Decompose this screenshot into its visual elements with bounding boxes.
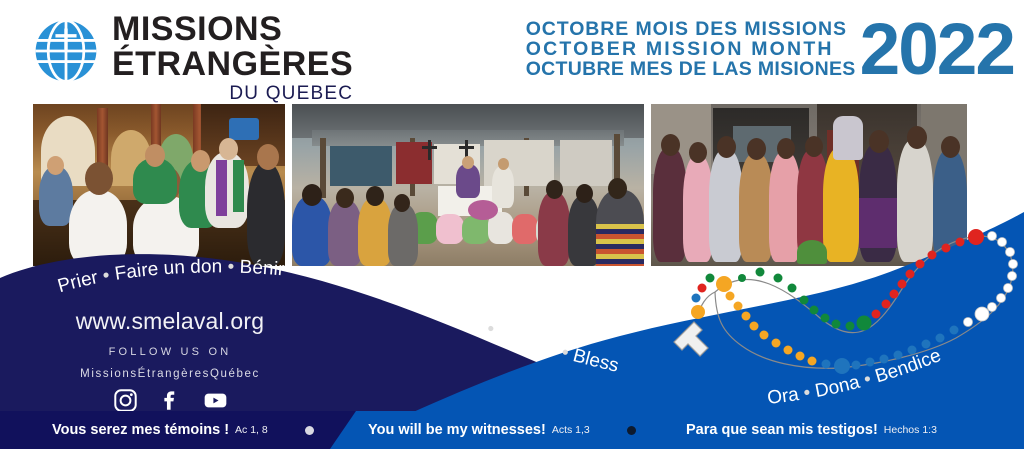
scripture-separator-1: [305, 411, 314, 449]
website-link[interactable]: www.smelaval.org: [0, 308, 340, 335]
cta-fr-pray: Prier: [55, 267, 100, 297]
cta-es-pray: Ora: [766, 384, 800, 409]
cta-fr-sep-1: •: [101, 265, 111, 287]
cta-english: Pray • Donate • Bless: [442, 304, 620, 377]
follow-us-label: FOLLOW US ON: [0, 346, 340, 358]
cta-spanish: Ora • Dona • Bendice: [766, 345, 944, 409]
cta-french: Prier • Faire un don • Bénir: [55, 256, 285, 297]
contact-block: www.smelaval.org FOLLOW US ON MissionsÉt…: [0, 308, 340, 413]
facebook-icon[interactable]: [158, 388, 183, 413]
cta-fr-bless: Bénir: [239, 257, 286, 281]
cta-en-pray: Pray: [442, 304, 486, 337]
scripture-english-text: You will be my witnesses!: [368, 422, 546, 438]
scripture-bar: Vous serez mes témoins ! Ac 1, 8 You wil…: [0, 411, 1024, 449]
cta-es-donate: Dona: [813, 372, 862, 402]
social-handle: MissionsÉtrangèresQuébec: [0, 368, 340, 380]
scripture-spanish-reference: Hechos 1:3: [884, 424, 937, 436]
cta-en-sep-1: •: [484, 318, 497, 340]
cta-fr-sep-2: •: [227, 256, 234, 277]
scripture-french: Vous serez mes témoins ! Ac 1, 8: [52, 411, 268, 449]
cta-en-sep-2: •: [559, 342, 571, 364]
instagram-icon[interactable]: [113, 388, 138, 413]
social-icons-row: [0, 388, 340, 413]
cta-fr-donate: Faire un don: [113, 256, 222, 284]
cta-es-sep-1: •: [802, 382, 812, 404]
cta-en-donate: Donate: [495, 322, 560, 361]
cta-en-bless: Bless: [571, 345, 621, 376]
scripture-separator-2: [627, 411, 636, 449]
scripture-spanish-text: Para que sean mis testigos!: [686, 422, 878, 438]
scripture-french-reference: Ac 1, 8: [235, 424, 268, 436]
cta-es-bless: Bendice: [873, 345, 944, 387]
scripture-english-reference: Acts 1,3: [552, 424, 590, 436]
scripture-french-text: Vous serez mes témoins !: [52, 422, 229, 438]
youtube-icon[interactable]: [203, 388, 228, 413]
cta-es-sep-2: •: [862, 369, 874, 391]
mission-month-banner: MISSIONS ÉTRANGÈRES DU QUEBEC OCTOBRE MO…: [0, 0, 1024, 449]
scripture-spanish: Para que sean mis testigos! Hechos 1:3: [686, 411, 937, 449]
scripture-english: You will be my witnesses! Acts 1,3: [368, 411, 590, 449]
